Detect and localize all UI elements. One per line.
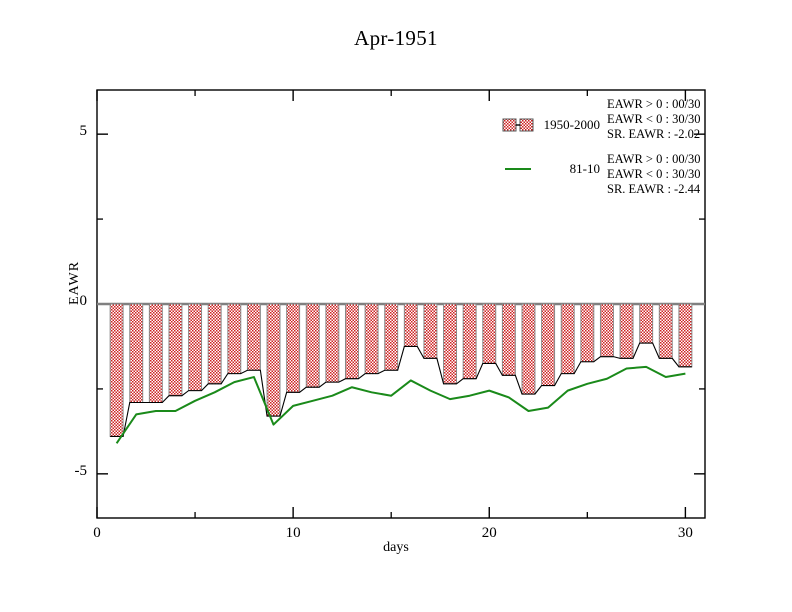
x-tick-label: 20	[459, 525, 519, 542]
bar	[228, 304, 241, 374]
y-tick-label: 5	[39, 123, 87, 140]
stat-line-positive-count: EAWR > 0 : 00/30	[607, 152, 701, 167]
bar	[640, 304, 653, 343]
chart-canvas: Apr-1951 EAWR days 50-50102030 1950-2000…	[0, 0, 792, 612]
bar	[561, 304, 574, 374]
bar	[483, 304, 496, 363]
bar	[149, 304, 162, 403]
stats-block-1950-2000: EAWR > 0 : 00/30 EAWR < 0 : 30/30 SR. EA…	[607, 97, 701, 142]
bar	[189, 304, 202, 391]
bar-series-1950-2000	[110, 304, 692, 436]
bar	[306, 304, 319, 387]
x-tick-label: 0	[67, 525, 127, 542]
plot-area	[0, 0, 792, 612]
bar	[620, 304, 633, 358]
y-tick-label: -5	[39, 463, 87, 480]
x-axis-title: days	[0, 540, 792, 556]
bar	[444, 304, 457, 384]
bar	[287, 304, 300, 392]
bar	[424, 304, 437, 358]
bar	[522, 304, 535, 394]
stat-line-sr-eawr: SR. EAWR : -2.02	[607, 127, 701, 142]
bar	[600, 304, 613, 357]
bar	[385, 304, 398, 370]
stat-line-negative-count: EAWR < 0 : 30/30	[607, 167, 701, 182]
x-tick-label: 10	[263, 525, 323, 542]
bar	[110, 304, 123, 436]
legend-label-81-10: 81-10	[440, 161, 600, 177]
x-tick-label: 30	[655, 525, 715, 542]
stat-line-positive-count: EAWR > 0 : 00/30	[607, 97, 701, 112]
bar	[581, 304, 594, 362]
bar	[365, 304, 378, 374]
bar	[659, 304, 672, 358]
y-tick-label: 0	[39, 293, 87, 310]
bar	[542, 304, 555, 386]
bar	[679, 304, 692, 367]
stat-line-sr-eawr: SR. EAWR : -2.44	[607, 182, 701, 197]
bar	[463, 304, 476, 379]
bar	[267, 304, 280, 416]
bar	[130, 304, 143, 403]
stats-block-81-10: EAWR > 0 : 00/30 EAWR < 0 : 30/30 SR. EA…	[607, 152, 701, 197]
legend-label-1950-2000: 1950-2000	[440, 117, 600, 133]
bar	[502, 304, 515, 375]
bar	[326, 304, 339, 382]
bar	[345, 304, 358, 379]
bar	[247, 304, 260, 370]
bar	[404, 304, 417, 346]
stat-line-negative-count: EAWR < 0 : 30/30	[607, 112, 701, 127]
bar	[169, 304, 182, 396]
bar	[208, 304, 221, 384]
